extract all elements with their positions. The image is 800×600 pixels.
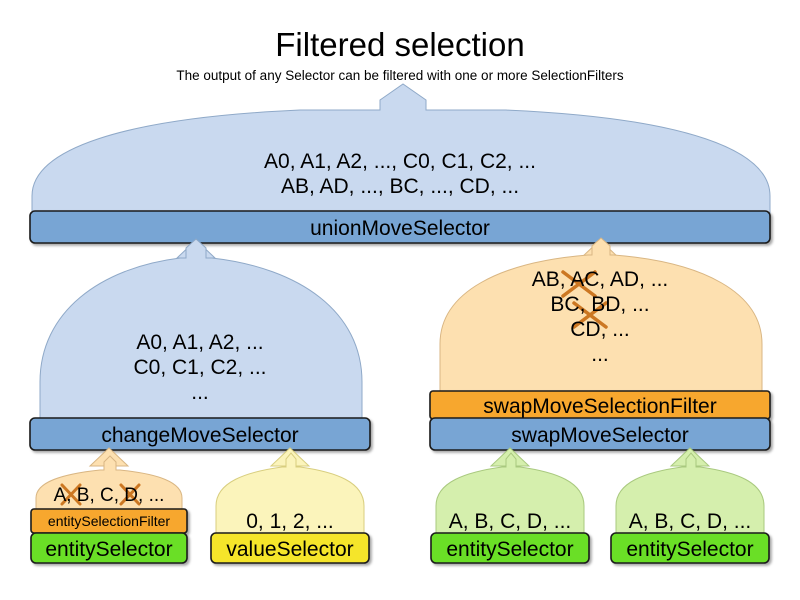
change-output-line-2: C0, C1, C2, ... (30, 355, 370, 380)
entity-selector-swap-left-label[interactable]: entitySelector (431, 539, 589, 560)
entity-swap-left-output-line-1: A, B, C, D, ... (431, 509, 589, 534)
union-move-selector-label[interactable]: unionMoveSelector (30, 218, 770, 239)
union-output-line-2: AB, AD, ..., BC, ..., CD, ... (0, 174, 800, 199)
entity-selection-filter-label[interactable]: entitySelectionFilter (31, 514, 187, 528)
entity-swap-right-output-line-1: A, B, C, D, ... (611, 509, 769, 534)
change-output-line-1: A0, A1, A2, ... (30, 330, 370, 355)
entity-selector-swap-right-output: A, B, C, D, ... (611, 509, 769, 534)
swap-move-selector-output: AB, AC, AD, ... BC, BD, ... CD, ... ... (430, 267, 770, 367)
change-move-selector-output: A0, A1, A2, ... C0, C1, C2, ... ... (30, 330, 370, 405)
entity-filtered-output-line-1: A, B, C, D, ... (24, 485, 194, 507)
union-output-line-1: A0, A1, A2, ..., C0, C1, C2, ... (0, 149, 800, 174)
union-move-selector-output: A0, A1, A2, ..., C0, C1, C2, ... AB, AD,… (0, 149, 800, 199)
page-title: Filtered selection (0, 26, 800, 64)
swap-move-selector-label[interactable]: swapMoveSelector (430, 425, 770, 446)
value-selector-output: 0, 1, 2, ... (211, 509, 369, 534)
entity-selector-filtered-output: A, B, C, D, ... (24, 485, 194, 507)
page-subtitle: The output of any Selector can be filter… (0, 68, 800, 83)
swap-output-line-1: AB, AC, AD, ... (430, 267, 770, 292)
value-output-line-1: 0, 1, 2, ... (211, 509, 369, 534)
value-selector-label[interactable]: valueSelector (211, 539, 369, 560)
entity-selector-swap-right-label[interactable]: entitySelector (611, 539, 769, 560)
change-move-selector-label[interactable]: changeMoveSelector (30, 425, 370, 446)
swap-output-line-4: ... (430, 342, 770, 367)
entity-selector-swap-left-output: A, B, C, D, ... (431, 509, 589, 534)
change-output-line-3: ... (30, 380, 370, 405)
swap-output-line-2: BC, BD, ... (430, 292, 770, 317)
swap-move-selection-filter-label[interactable]: swapMoveSelectionFilter (430, 396, 770, 417)
swap-output-line-3: CD, ... (430, 317, 770, 342)
entity-selector-filtered-label[interactable]: entitySelector (31, 539, 187, 560)
